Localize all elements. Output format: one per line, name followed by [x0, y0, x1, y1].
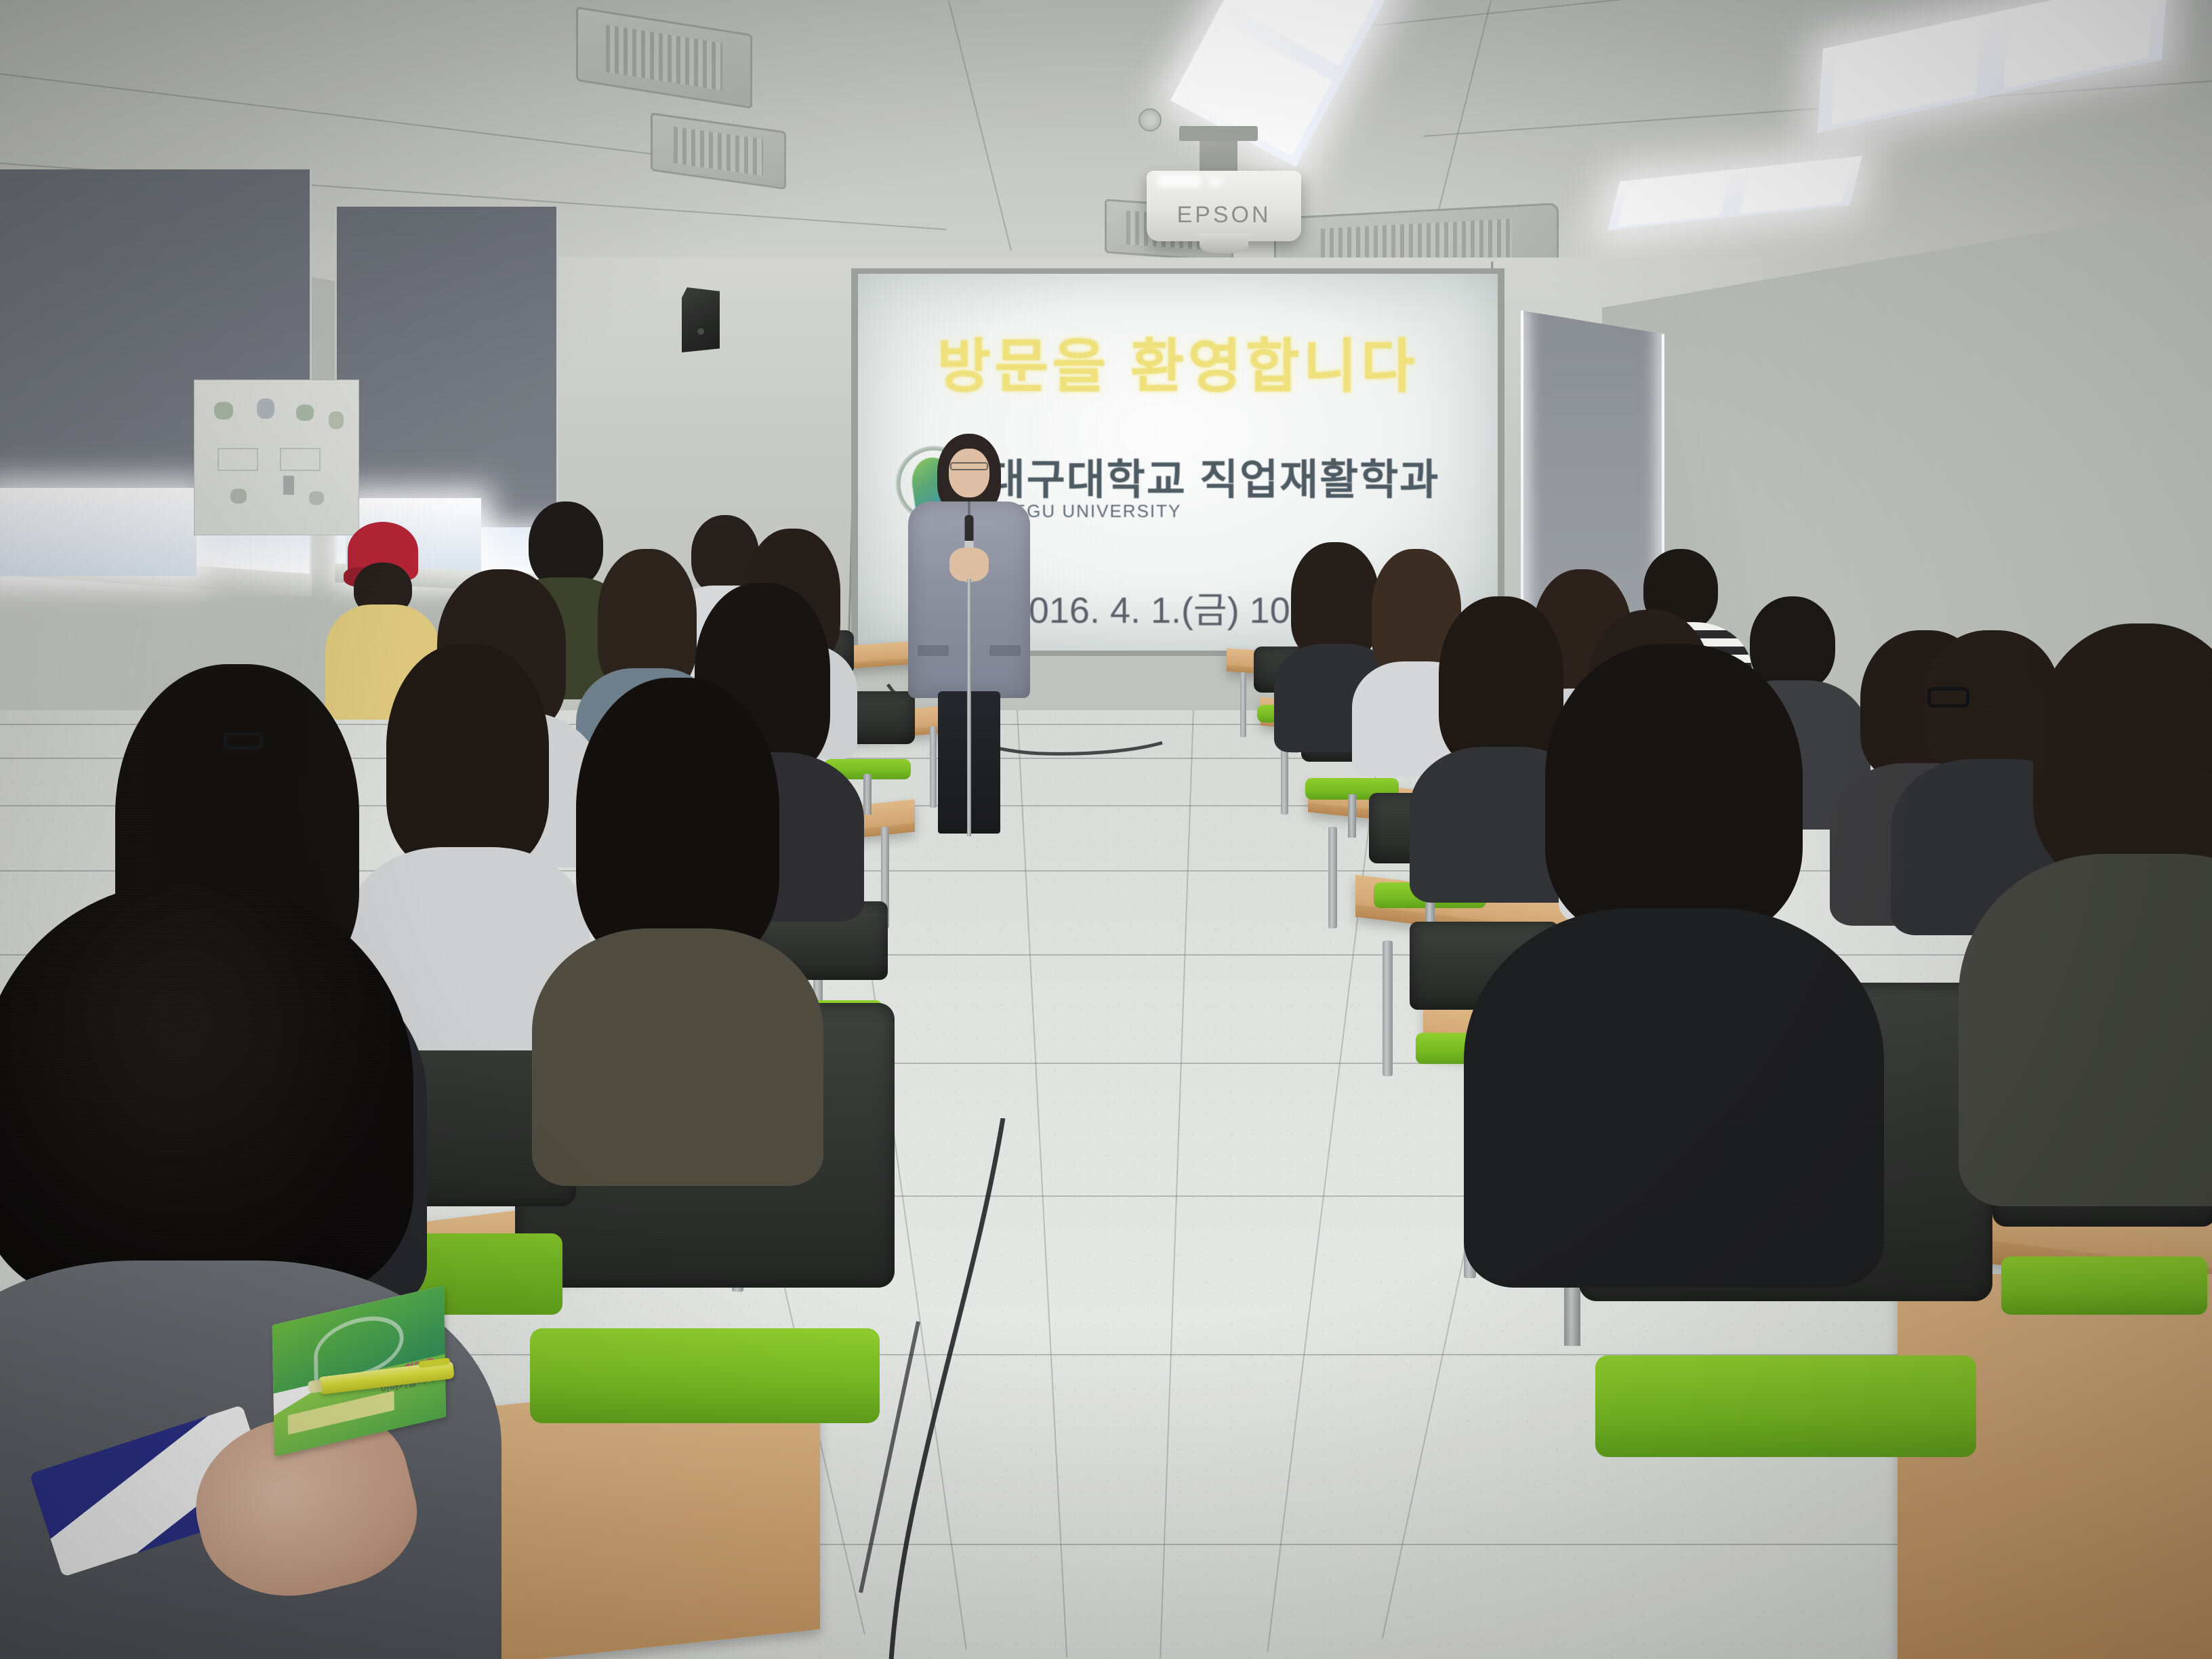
hair: [1545, 644, 1803, 935]
hair: [2033, 623, 2212, 881]
presenter: [901, 434, 1037, 854]
glasses-icon: [1927, 687, 1969, 708]
torso: [1959, 854, 2212, 1206]
ceiling-smoke-detector: [1139, 108, 1162, 131]
slide-organization-kr: 대구대학교 직업재활학과: [987, 445, 1440, 506]
hair: [386, 644, 549, 867]
desk-leg: [1382, 941, 1393, 1076]
wall-poster-children-drawings: [194, 380, 359, 535]
hair: [1291, 542, 1379, 657]
hair: [0, 881, 413, 1301]
projector-lens: [1200, 233, 1249, 253]
audience-member-foreground: [0, 881, 434, 1659]
presenter-face: [949, 449, 989, 497]
audience-member: [576, 678, 779, 1030]
glasses-icon: [224, 732, 263, 750]
hair: [576, 678, 779, 962]
slide-organization-en: DAEGU UNIVERSITY: [987, 501, 1440, 522]
projector-mount-plate: [1179, 126, 1258, 141]
torso: [532, 928, 823, 1186]
microphone-cable-vertical: [967, 579, 971, 836]
audience-member-right-edge: [2020, 623, 2212, 1111]
presenter-glasses-icon: [950, 462, 988, 470]
presenter-hands: [949, 548, 989, 581]
classroom-photo: EPSON 방문을 환영합니다: [0, 0, 2212, 1659]
desk-leg: [1240, 672, 1246, 737]
projector-brand-label: EPSON: [1147, 202, 1301, 228]
desk-leg: [1328, 827, 1337, 928]
window-glass-left-1: [0, 488, 197, 576]
projector: EPSON: [1147, 171, 1301, 241]
audience-member-front-right: [1532, 644, 1816, 1172]
wall-speaker-left: [682, 287, 720, 352]
torso: [1464, 908, 1884, 1288]
slide-title: 방문을 환영합니다: [937, 319, 1419, 403]
audience-member-glasses: [224, 732, 264, 773]
